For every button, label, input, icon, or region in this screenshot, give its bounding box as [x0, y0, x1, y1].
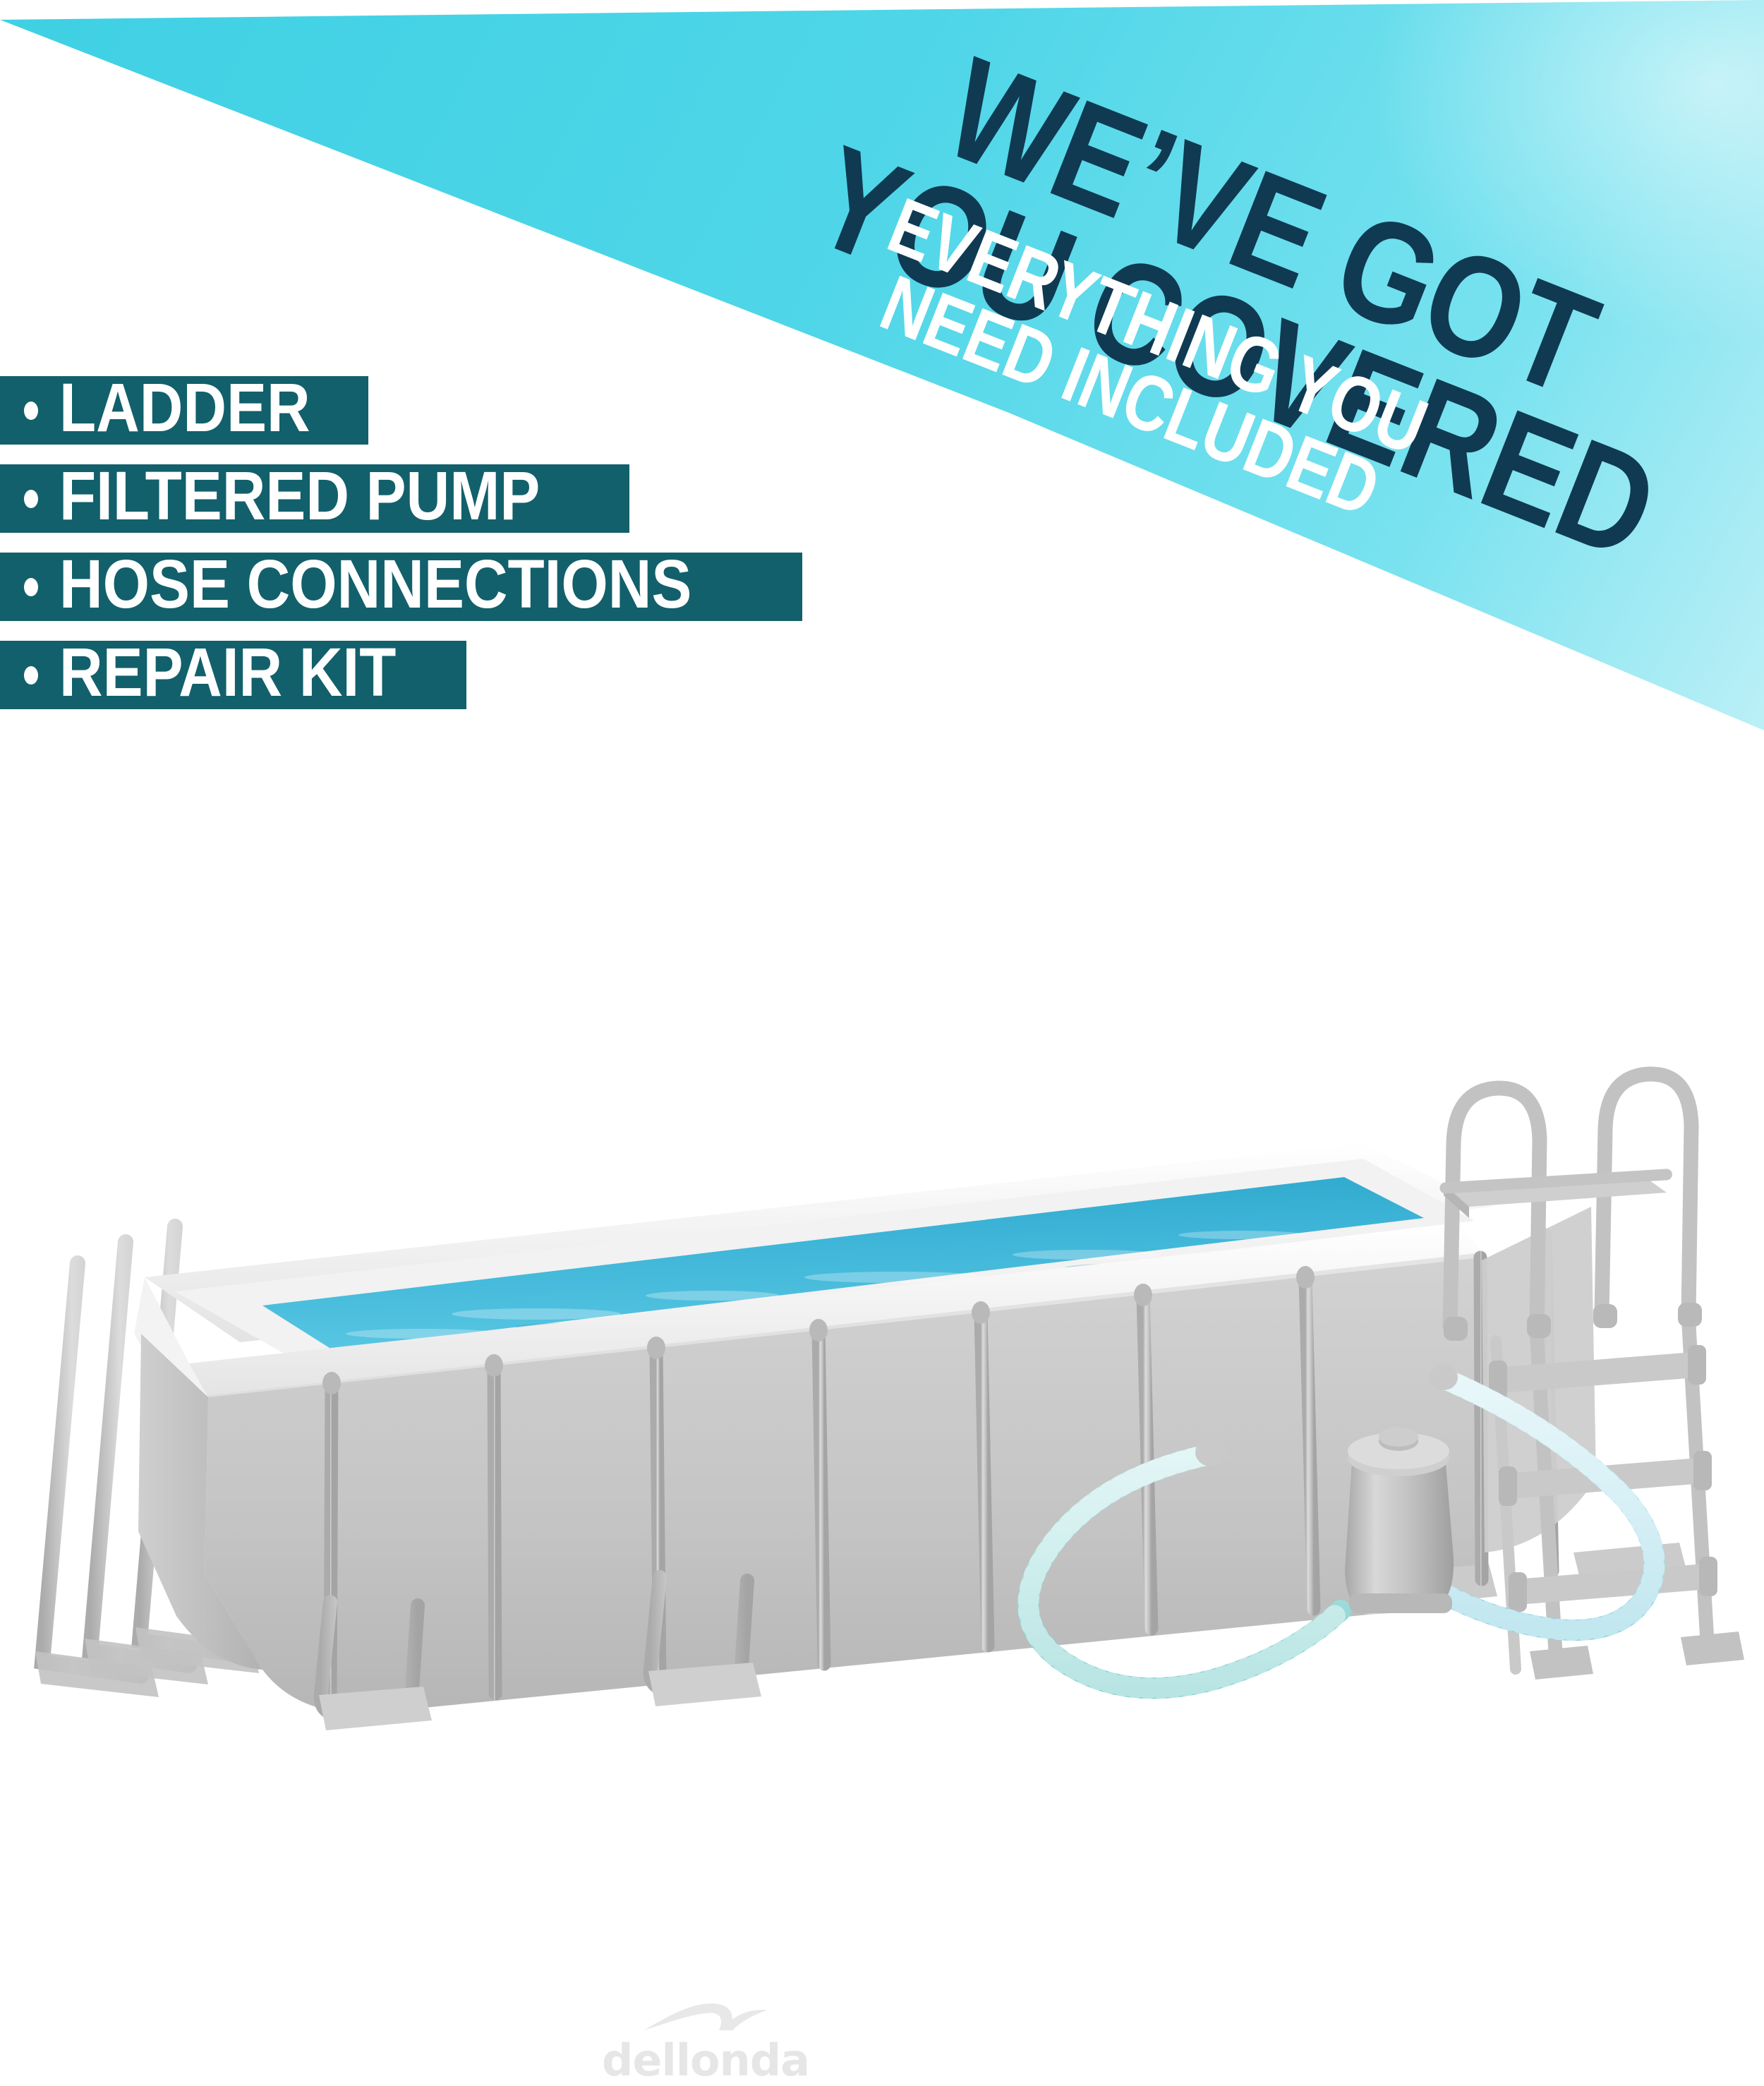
feature-label: FILTERED PUMP [59, 462, 540, 530]
feature-item-repair-kit: REPAIR KIT [0, 641, 466, 709]
feature-item-ladder: LADDER [0, 376, 368, 445]
bullet-dot-icon [24, 578, 38, 596]
pump-body [1345, 1455, 1454, 1615]
brand-logo: dellonda [600, 2001, 811, 2082]
feature-label: REPAIR KIT [59, 638, 396, 706]
bullet-dot-icon [24, 490, 38, 508]
feature-list: LADDER FILTERED PUMP HOSE CONNECTIONS RE… [0, 376, 802, 729]
feature-item-filtered-pump: FILTERED PUMP [0, 464, 629, 533]
bullet-dot-icon [24, 402, 38, 420]
pump-knob-top [1379, 1427, 1418, 1447]
feature-label: HOSE CONNECTIONS [59, 550, 691, 618]
pool-illustration-svg [0, 840, 1764, 1764]
feature-item-hose-connections: HOSE CONNECTIONS [0, 553, 802, 621]
brand-wordmark: dellonda [600, 2039, 811, 2082]
filter-pump [1345, 1427, 1454, 1615]
feature-label: LADDER [59, 373, 310, 442]
pump-base [1349, 1593, 1452, 1613]
wave-icon [639, 2001, 773, 2037]
product-image-pool: dellonda [0, 840, 1764, 1764]
bullet-dot-icon [24, 666, 38, 685]
